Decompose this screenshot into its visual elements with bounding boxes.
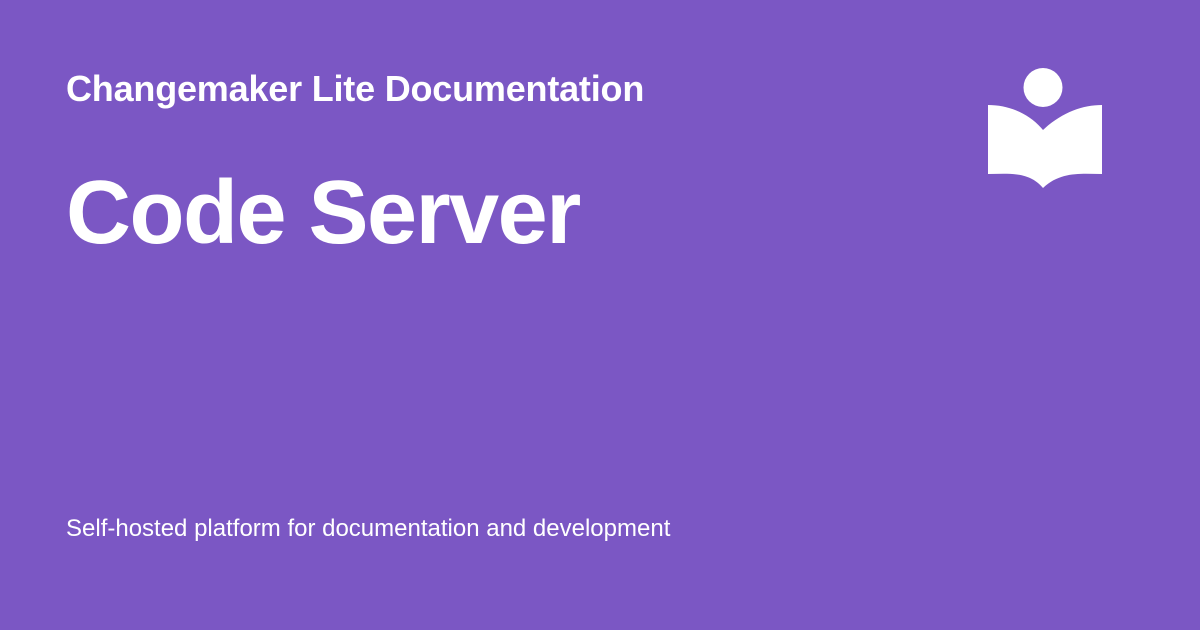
open-book-reader-icon	[984, 62, 1108, 194]
page-title: Code Server	[66, 163, 580, 263]
page-subtitle: Self-hosted platform for documentation a…	[66, 513, 670, 545]
project-eyebrow-label: Changemaker Lite Documentation	[66, 68, 644, 110]
open-graph-card: Changemaker Lite Documentation Code Serv…	[0, 0, 1200, 630]
